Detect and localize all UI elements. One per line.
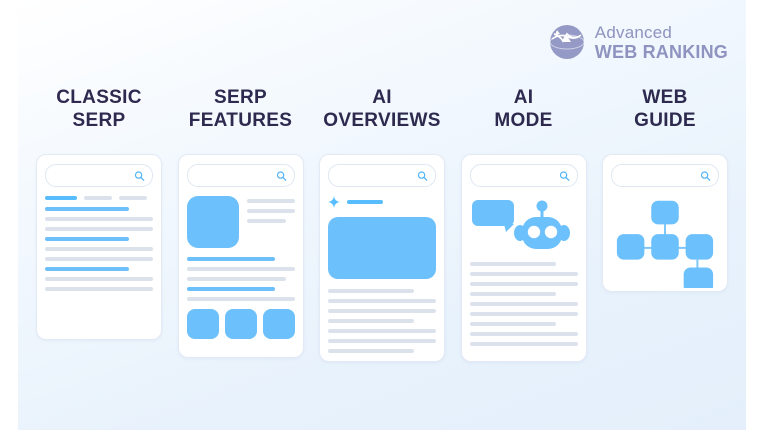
result-text-line <box>328 289 414 293</box>
result-text-line <box>328 319 414 323</box>
feature-tile[interactable] <box>263 309 295 339</box>
search-icon <box>559 170 570 181</box>
column-title: AI MODE <box>494 86 552 138</box>
robot-chat-graphic <box>470 196 578 254</box>
result-text-line <box>470 272 578 276</box>
result-text-line <box>45 287 153 291</box>
logo-wordmark: Advanced WEB RANKING <box>595 24 728 61</box>
tab-item[interactable] <box>119 196 147 200</box>
search-bar[interactable] <box>611 164 719 187</box>
result-tabs <box>45 196 153 200</box>
search-bar[interactable] <box>45 164 153 187</box>
card-ai-mode[interactable] <box>461 154 587 362</box>
node-left <box>617 234 644 260</box>
feature-block-row <box>187 196 295 248</box>
column-title: AI OVERVIEWS <box>323 86 440 138</box>
node-tree-diagram <box>611 196 719 288</box>
search-icon <box>700 170 711 181</box>
result-text-line <box>45 227 153 231</box>
chat-bubble-icon <box>472 200 514 232</box>
search-bar[interactable] <box>187 164 295 187</box>
feature-tile[interactable] <box>225 309 257 339</box>
logo-line-1: Advanced <box>595 24 728 41</box>
column-ai-overviews: AI OVERVIEWS <box>317 86 447 362</box>
column-web-guide: WEB GUIDE <box>600 86 730 362</box>
card-classic-serp[interactable] <box>36 154 162 340</box>
globe-icon <box>547 22 587 62</box>
tab-item[interactable] <box>45 196 77 200</box>
result-text-line <box>328 309 436 313</box>
result-text-line <box>187 297 295 301</box>
result-text-line <box>247 209 295 213</box>
card-ai-overviews[interactable] <box>319 154 445 362</box>
result-text-line <box>187 267 295 271</box>
infographic-canvas: Advanced WEB RANKING CLASSIC SERP <box>0 0 772 448</box>
card-web-guide[interactable] <box>602 154 728 292</box>
ai-chat-illustration <box>470 196 578 254</box>
result-text-line <box>470 322 556 326</box>
ai-badge-row <box>328 196 436 208</box>
column-title: WEB GUIDE <box>634 86 696 138</box>
sparkle-icon <box>328 196 340 208</box>
column-serp-features: SERP FEATURES <box>176 86 306 362</box>
column-classic-serp: CLASSIC SERP <box>34 86 164 362</box>
result-text-line <box>328 329 436 333</box>
result-title-line <box>187 287 276 291</box>
result-text-line <box>328 349 414 353</box>
result-text-line <box>247 219 286 223</box>
search-icon <box>417 170 428 181</box>
card-serp-features[interactable] <box>178 154 304 358</box>
search-bar[interactable] <box>470 164 578 187</box>
result-text-line <box>470 332 578 336</box>
logo-line-2: WEB RANKING <box>595 43 728 61</box>
result-title-line <box>45 267 129 271</box>
result-text-line <box>45 277 153 281</box>
feature-tile[interactable] <box>187 309 219 339</box>
image-block <box>187 196 239 248</box>
ai-answer-block <box>328 217 436 279</box>
comparison-columns: CLASSIC SERP <box>18 86 746 362</box>
result-title-line <box>45 237 129 241</box>
column-title: CLASSIC SERP <box>56 86 142 138</box>
result-text-line <box>328 339 436 343</box>
result-text-line <box>328 299 436 303</box>
result-text-line <box>247 199 295 203</box>
result-text-line <box>470 312 578 316</box>
result-text-line <box>45 217 153 221</box>
result-title-line <box>45 207 129 211</box>
result-text-line <box>470 342 578 346</box>
result-text-line <box>470 282 578 286</box>
robot-icon <box>514 201 570 250</box>
result-text-line <box>470 302 578 306</box>
tab-item[interactable] <box>84 196 112 200</box>
result-text-line <box>470 262 556 266</box>
node-bottom <box>684 268 713 288</box>
search-icon <box>276 170 287 181</box>
node-center <box>651 234 678 260</box>
node-right <box>686 234 713 260</box>
ai-badge-line <box>347 200 383 204</box>
node-top <box>651 201 678 225</box>
search-icon <box>134 170 145 181</box>
result-text-line <box>470 292 556 296</box>
result-text-line <box>45 247 153 251</box>
result-text-line <box>45 257 153 261</box>
column-ai-mode: AI MODE <box>459 86 589 362</box>
result-text-line <box>187 277 286 281</box>
brand-logo: Advanced WEB RANKING <box>547 22 728 62</box>
column-title: SERP FEATURES <box>189 86 292 138</box>
feature-tiles <box>187 309 295 339</box>
result-title-line <box>187 257 276 261</box>
search-bar[interactable] <box>328 164 436 187</box>
feature-text-lines <box>247 196 295 248</box>
